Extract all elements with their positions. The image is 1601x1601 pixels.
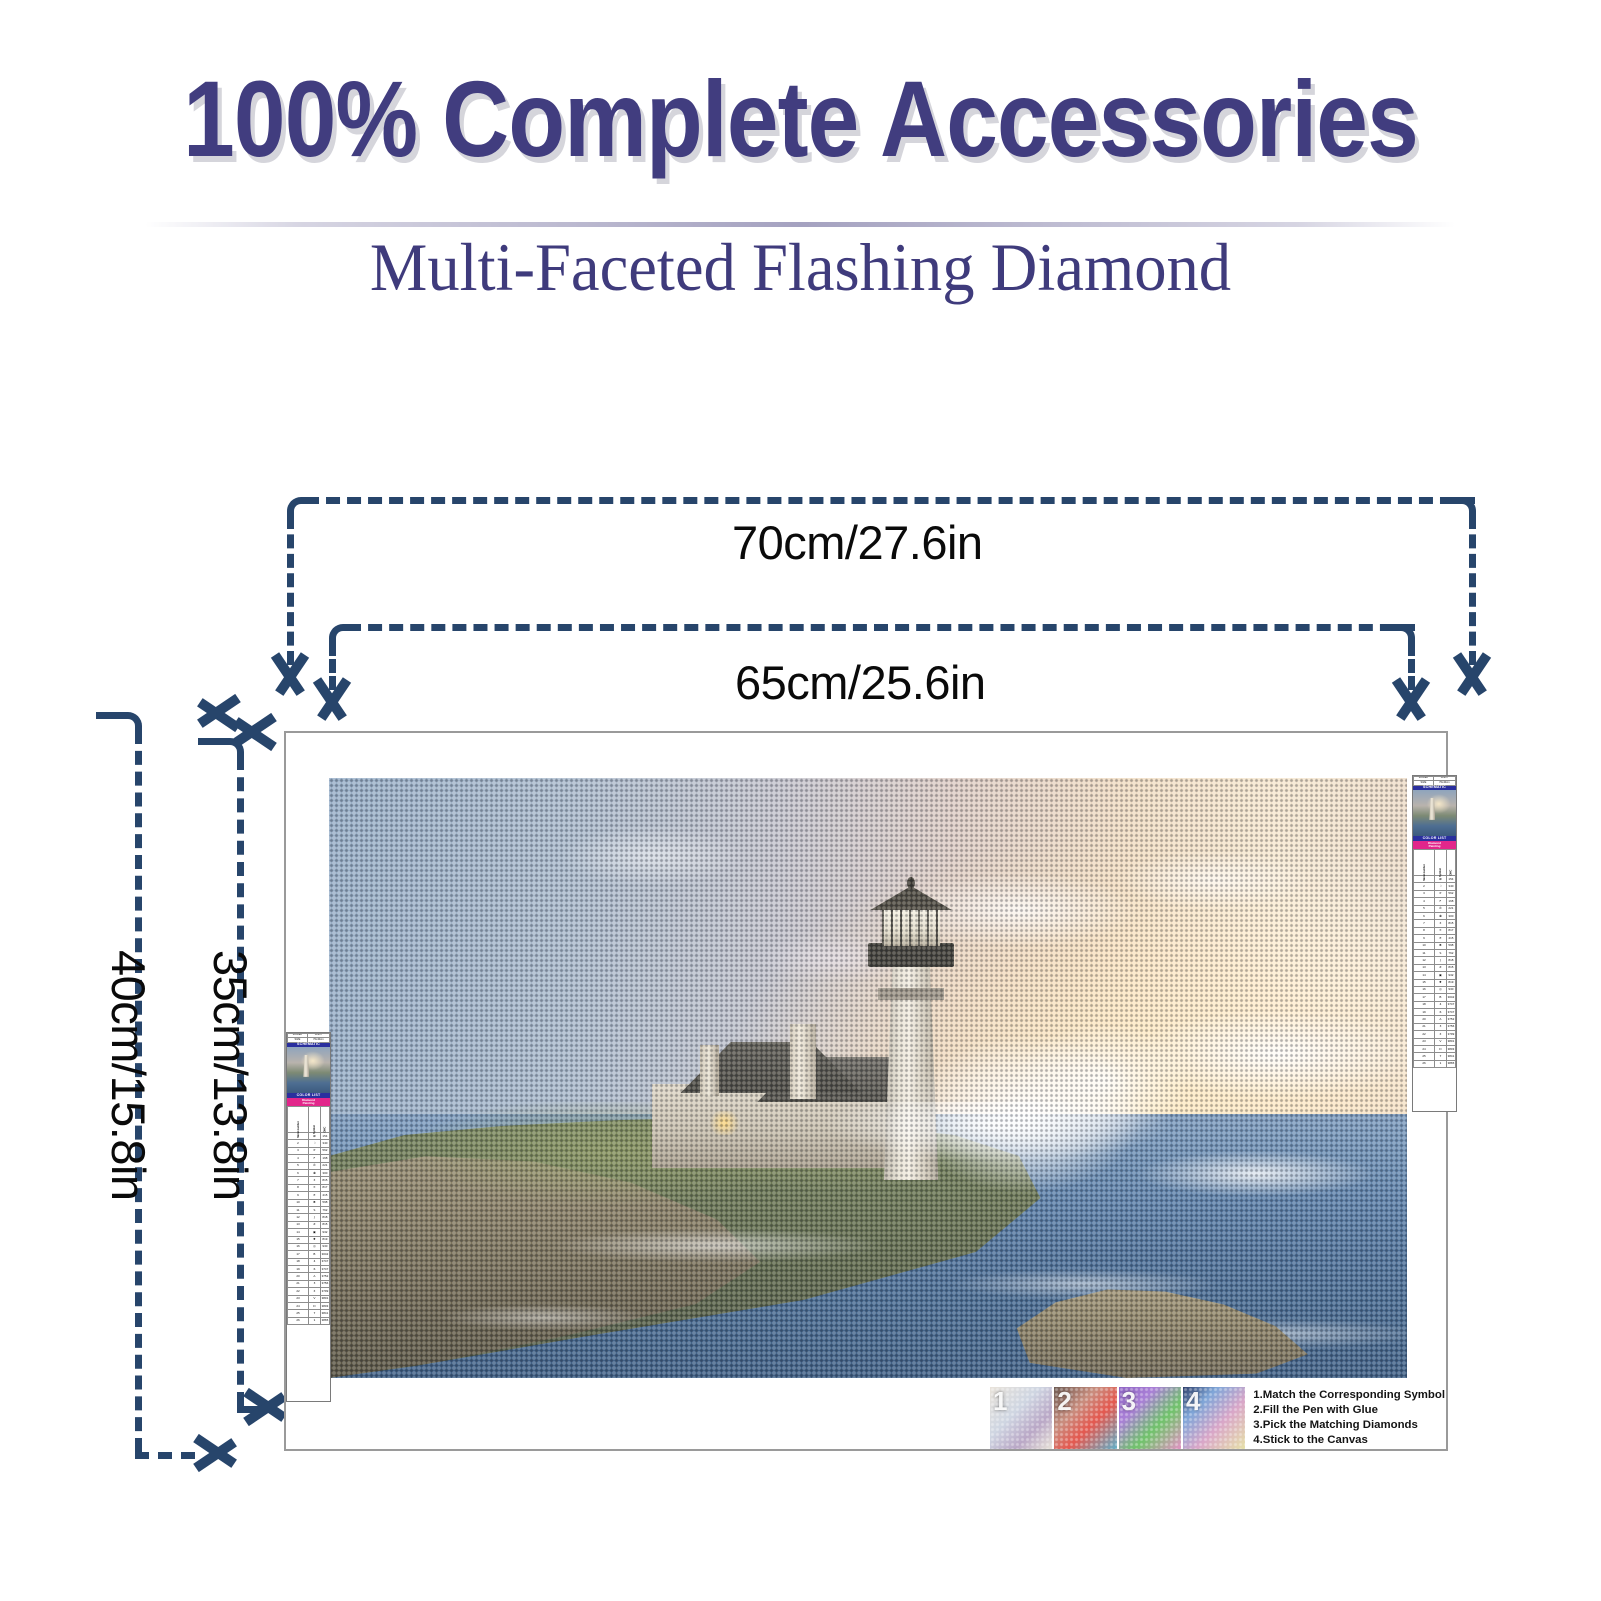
row-dmc: 817 (320, 1184, 329, 1191)
row-symbol: E (1434, 935, 1446, 942)
brand-banner: Diamond Painting (287, 1098, 330, 1106)
color-list-row: 14▣932 (1414, 972, 1456, 979)
color-list-row: 5✇221 (1414, 905, 1456, 912)
inner-height-arrow-bottom (246, 1381, 288, 1433)
color-list-row: 1✿154 (288, 1133, 330, 1140)
row-serial: 10 (1414, 942, 1435, 949)
row-symbol: ✕ (1434, 927, 1446, 934)
row-symbol: ✇ (1434, 905, 1446, 912)
row-serial: 5 (288, 1162, 309, 1169)
instruction-step-3: 3.Pick the Matching Diamonds (1253, 1418, 1445, 1433)
row-symbol: ✽ (308, 1170, 320, 1177)
row-symbol: F (308, 1155, 320, 1162)
instruction-step-2: 2.Fill the Pen with Glue (1253, 1403, 1445, 1418)
lighthouse-lantern-bars (882, 907, 940, 946)
row-serial: 12 (288, 1214, 309, 1221)
row-symbol: ▣ (308, 1229, 320, 1236)
instruction-thumb-number-3: 3 (1122, 1388, 1136, 1414)
row-dmc: 221 (320, 1162, 329, 1169)
row-dmc: 932 (1446, 972, 1455, 979)
row-symbol: ✶ (1434, 1031, 1446, 1038)
col-dmc-label: DMC (1449, 870, 1452, 876)
house-chimney-right (790, 1024, 816, 1099)
row-serial: 21 (1414, 1023, 1435, 1030)
row-symbol: 7 (308, 1310, 320, 1317)
row-dmc: 3747 (1446, 1009, 1455, 1016)
row-dmc: 3801 (1446, 1038, 1455, 1045)
row-symbol: 3 (308, 1280, 320, 1287)
product-canvas: 1 2 3 4 1.Match the Corresponding Symbol… (284, 731, 1448, 1451)
row-serial: 17 (288, 1251, 309, 1258)
row-symbol: 1 (308, 1317, 320, 1324)
color-list-row: 24D3803 (288, 1303, 330, 1310)
inner-height-label: 35cm/13.8in (203, 950, 258, 1201)
row-serial: 22 (1414, 1031, 1435, 1038)
row-serial: 16 (288, 1243, 309, 1250)
row-dmc: 818 (1446, 957, 1455, 964)
color-list-row: 6✽300 (1414, 913, 1456, 920)
row-dmc: 3799 (320, 1288, 329, 1295)
row-dmc: 819 (1446, 979, 1455, 986)
row-serial: 22 (288, 1288, 309, 1295)
brand-banner: Diamond Painting (1413, 841, 1456, 849)
row-dmc: 154 (320, 1133, 329, 1140)
color-list-row: 9E415 (1414, 935, 1456, 942)
color-list-row: 10✖598 (288, 1199, 330, 1206)
row-serial: 4 (288, 1155, 309, 1162)
color-list-row: 4F168 (1414, 898, 1456, 905)
row-serial: 4 (1414, 898, 1435, 905)
color-list-row: 15✸819 (288, 1236, 330, 1243)
lighthouse-roof (870, 886, 951, 910)
outer-height-arrow-top (196, 687, 238, 739)
col-serial-label: Serial number (296, 1121, 299, 1138)
row-symbol: ✖ (1434, 942, 1446, 949)
color-list-row: 3P562 (288, 1147, 330, 1154)
color-list-row: 2☽340 (1414, 883, 1456, 890)
row-symbol: S (1434, 949, 1446, 956)
row-dmc: 300 (320, 1170, 329, 1177)
color-list-row: 10✖598 (1414, 942, 1456, 949)
instruction-thumb-number-2: 2 (1057, 1388, 1071, 1414)
row-serial: 20 (288, 1273, 309, 1280)
row-dmc: 3799 (1446, 1031, 1455, 1038)
row-serial: 21 (288, 1280, 309, 1287)
row-symbol: ▣ (1434, 972, 1446, 979)
row-dmc: 3865 (1446, 1060, 1455, 1067)
row-serial: 3 (1414, 890, 1435, 897)
color-list-row: 2☽340 (288, 1140, 330, 1147)
row-dmc: 762 (320, 1206, 329, 1213)
row-dmc: 815 (320, 1177, 329, 1184)
color-list-row: 12J818 (288, 1214, 330, 1221)
row-dmc: 3752 (1446, 1016, 1455, 1023)
row-serial: 8 (1414, 927, 1435, 934)
row-symbol: V (1434, 1038, 1446, 1045)
row-symbol: 6 (1434, 1009, 1446, 1016)
outer-width-leg-right (1469, 515, 1476, 665)
color-list-row: 2613865 (1414, 1060, 1456, 1067)
row-serial: 3 (288, 1147, 309, 1154)
header-block: 100% Complete Accessories Multi-Faceted … (0, 0, 1601, 330)
color-list-row: 1✿154 (1414, 876, 1456, 883)
house-chimney-left (700, 1045, 719, 1096)
color-list-row: 7✶815 (1414, 920, 1456, 927)
row-dmc: 300 (1446, 913, 1455, 920)
row-dmc: 3747 (1446, 1001, 1455, 1008)
row-dmc: 815 (1446, 920, 1455, 927)
row-serial: 10 (288, 1199, 309, 1206)
row-serial: 18 (288, 1258, 309, 1265)
row-symbol: J (308, 1214, 320, 1221)
color-list-row: 16◎930 (1414, 986, 1456, 993)
lighthouse-gallery (868, 943, 953, 967)
inner-height-top-leg (198, 738, 224, 745)
color-list-row: 20A3752 (1414, 1016, 1456, 1023)
row-dmc: 415 (320, 1192, 329, 1199)
instruction-thumb-3: 3 (1119, 1387, 1181, 1449)
row-dmc: 598 (320, 1199, 329, 1206)
row-dmc: 762 (1446, 949, 1455, 956)
color-list-row: 4F168 (288, 1155, 330, 1162)
row-symbol: 1 (1434, 1060, 1446, 1067)
row-serial: 26 (1414, 1060, 1435, 1067)
color-list-row: 8✕817 (288, 1184, 330, 1191)
instruction-thumb-number-1: 1 (993, 1388, 1007, 1414)
row-symbol: ☽ (1434, 883, 1446, 890)
color-list-row: 5✇221 (288, 1162, 330, 1169)
row-serial: 12 (1414, 957, 1435, 964)
color-list-table-right: Serial number Symbol DMC 1✿1542☽3403P562… (1413, 849, 1456, 1068)
row-serial: 5 (1414, 905, 1435, 912)
title-divider (145, 222, 1455, 227)
row-serial: 8 (288, 1184, 309, 1191)
row-dmc: 3042 (1446, 994, 1455, 1001)
color-list-row: 17B3042 (288, 1251, 330, 1258)
color-list-row: 1963747 (1414, 1009, 1456, 1016)
color-list-row: 20A3752 (288, 1273, 330, 1280)
col-dmc: DMC (320, 1107, 329, 1133)
inner-width-arrow-left (306, 680, 358, 722)
row-dmc: 819 (320, 1236, 329, 1243)
row-serial: 23 (288, 1295, 309, 1302)
schematic-thumbnail (1413, 790, 1456, 836)
row-dmc: 3841 (320, 1310, 329, 1317)
row-dmc: 932 (320, 1229, 329, 1236)
row-serial: 14 (1414, 972, 1435, 979)
row-dmc: 3752 (320, 1273, 329, 1280)
color-list-body-left: 1✿1542☽3403P5624F1685✇2216✽3007✶8158✕817… (288, 1133, 330, 1325)
row-serial: 9 (288, 1192, 309, 1199)
outer-width-arrow-right (1446, 655, 1498, 697)
color-list-row: 1963747 (288, 1266, 330, 1273)
color-list-legend-right: MODEL 52967 SIZE 70x40cm SCHEMATIC COLOR… (1412, 775, 1457, 1112)
color-list-row: 14▣932 (288, 1229, 330, 1236)
row-symbol: ◎ (1434, 986, 1446, 993)
inner-width-arrow-right (1385, 680, 1437, 722)
row-dmc: 340 (1446, 883, 1455, 890)
row-dmc: 817 (1446, 927, 1455, 934)
color-list-row: 6✽300 (288, 1170, 330, 1177)
outer-height-top-leg (96, 712, 122, 719)
instruction-thumb-1: 1 (990, 1387, 1052, 1449)
instruction-strip: 1 2 3 4 1.Match the Corresponding Symbol… (990, 1387, 1445, 1449)
row-symbol: D (308, 1303, 320, 1310)
outer-height-label: 40cm/15.8in (101, 950, 156, 1201)
row-serial: 13 (1414, 964, 1435, 971)
color-list-body-right: 1✿1542☽3403P5624F1685✇2216✽3007✶8158✕817… (1414, 876, 1456, 1068)
row-symbol: Z (308, 1221, 320, 1228)
color-list-row: 24D3803 (1414, 1046, 1456, 1053)
row-symbol: 6 (308, 1266, 320, 1273)
row-symbol: A (1434, 1016, 1446, 1023)
row-dmc: 3747 (320, 1258, 329, 1265)
color-list-table-left: Serial number Symbol DMC 1✿1542☽3403P562… (287, 1106, 330, 1325)
row-dmc: 340 (320, 1140, 329, 1147)
legend-meta-table-left: MODEL 52967 SIZE 70x40cm (287, 1033, 330, 1043)
color-list-row: 3P562 (1414, 890, 1456, 897)
row-serial: 19 (1414, 1009, 1435, 1016)
row-dmc: 598 (1446, 942, 1455, 949)
color-list-row: 2573841 (288, 1310, 330, 1317)
col-dmc: DMC (1446, 850, 1455, 876)
row-symbol: 4 (1434, 1001, 1446, 1008)
row-symbol: ✶ (308, 1177, 320, 1184)
page-subtitle: Multi-Faceted Flashing Diamond (40, 228, 1561, 307)
row-symbol: ◎ (308, 1243, 320, 1250)
row-symbol: 7 (1434, 1053, 1446, 1060)
row-dmc: 930 (320, 1243, 329, 1250)
row-dmc: 415 (1446, 935, 1455, 942)
outer-width-label: 70cm/27.6in (732, 515, 983, 570)
row-serial: 26 (288, 1317, 309, 1324)
row-dmc: 3747 (320, 1266, 329, 1273)
instruction-thumb-4: 4 (1183, 1387, 1245, 1449)
row-serial: 16 (1414, 986, 1435, 993)
instruction-step-1: 1.Match the Corresponding Symbol (1253, 1388, 1445, 1403)
color-list-row: 17B3042 (1414, 994, 1456, 1001)
col-serial-label: Serial number (1422, 864, 1425, 881)
lighthouse-finial (907, 877, 915, 889)
row-symbol: 3 (1434, 1023, 1446, 1030)
row-symbol: F (1434, 898, 1446, 905)
color-list-row: 2133756 (288, 1280, 330, 1287)
outer-width-line (305, 497, 1475, 504)
row-serial: 24 (1414, 1046, 1435, 1053)
row-dmc: 815 (1446, 964, 1455, 971)
row-symbol: ✇ (308, 1162, 320, 1169)
color-list-row: 13Z815 (288, 1221, 330, 1228)
outer-height-bottom-leg (135, 1452, 195, 1459)
color-list-legend-left: MODEL 52967 SIZE 70x40cm SCHEMATIC COLOR… (286, 1032, 331, 1402)
legend-meta-table-right: MODEL 52967 SIZE 70x40cm (1413, 776, 1456, 786)
row-dmc: 3756 (1446, 1023, 1455, 1030)
color-list-row: 12J818 (1414, 957, 1456, 964)
color-list-row: 13Z815 (1414, 964, 1456, 971)
row-dmc: 3042 (320, 1251, 329, 1258)
color-list-row: 2133756 (1414, 1023, 1456, 1030)
row-dmc: 221 (1446, 905, 1455, 912)
row-serial: 7 (288, 1177, 309, 1184)
col-serial-number: Serial number (1414, 850, 1435, 876)
row-symbol: E (308, 1192, 320, 1199)
row-symbol: B (1434, 994, 1446, 1001)
row-dmc: 3803 (320, 1303, 329, 1310)
row-dmc: 3841 (1446, 1053, 1455, 1060)
row-dmc: 818 (320, 1214, 329, 1221)
color-list-row: 7✶815 (288, 1177, 330, 1184)
row-dmc: 930 (1446, 986, 1455, 993)
row-symbol: A (308, 1273, 320, 1280)
row-serial: 25 (288, 1310, 309, 1317)
brand-line-2: Painting (287, 1102, 330, 1105)
color-list-head: Serial number Symbol DMC (1414, 850, 1456, 876)
row-symbol: D (1434, 1046, 1446, 1053)
row-dmc: 168 (320, 1155, 329, 1162)
row-serial: 14 (288, 1229, 309, 1236)
row-serial: 11 (288, 1206, 309, 1213)
row-serial: 24 (288, 1303, 309, 1310)
instruction-thumb-number-4: 4 (1186, 1388, 1200, 1414)
row-symbol: P (308, 1147, 320, 1154)
row-serial: 25 (1414, 1053, 1435, 1060)
row-dmc: 815 (320, 1221, 329, 1228)
row-serial: 15 (288, 1236, 309, 1243)
row-serial: 23 (1414, 1038, 1435, 1045)
instruction-thumb-2: 2 (1054, 1387, 1116, 1449)
row-serial: 2 (288, 1140, 309, 1147)
instruction-step-4: 4.Stick to the Canvas (1253, 1433, 1445, 1448)
schematic-thumbnail (287, 1047, 330, 1093)
row-symbol: ✶ (1434, 920, 1446, 927)
color-list-row: 23V3801 (1414, 1038, 1456, 1045)
instruction-steps: 1.Match the Corresponding Symbol 2.Fill … (1247, 1387, 1445, 1449)
row-serial: 11 (1414, 949, 1435, 956)
col-symbol-label: Symbol (313, 1125, 316, 1134)
row-serial: 6 (1414, 913, 1435, 920)
row-serial: 20 (1414, 1016, 1435, 1023)
row-dmc: 154 (1446, 876, 1455, 883)
row-symbol: V (308, 1295, 320, 1302)
row-serial: 13 (288, 1221, 309, 1228)
row-symbol: ✸ (1434, 979, 1446, 986)
row-serial: 15 (1414, 979, 1435, 986)
row-symbol: 4 (308, 1258, 320, 1265)
col-dmc-label: DMC (323, 1127, 326, 1133)
col-serial-number: Serial number (288, 1107, 309, 1133)
color-list-row: 15✸819 (1414, 979, 1456, 986)
row-symbol: ✖ (308, 1199, 320, 1206)
lighthouse-band (878, 988, 944, 1000)
row-symbol: ✽ (1434, 913, 1446, 920)
row-serial: 18 (1414, 1001, 1435, 1008)
row-serial: 17 (1414, 994, 1435, 1001)
brand-line-2: Painting (1413, 845, 1456, 848)
inner-height-arrow-top (232, 706, 274, 758)
color-list-row: 8✕817 (1414, 927, 1456, 934)
color-list-head: Serial number Symbol DMC (288, 1107, 330, 1133)
inner-width-line (347, 624, 1415, 631)
row-dmc: 3803 (1446, 1046, 1455, 1053)
row-symbol: S (308, 1206, 320, 1213)
inner-width-label: 65cm/25.6in (735, 655, 986, 710)
outer-height-arrow-bottom (196, 1427, 238, 1479)
row-symbol: B (308, 1251, 320, 1258)
row-symbol: Z (1434, 964, 1446, 971)
row-symbol: ✕ (308, 1184, 320, 1191)
row-serial: 6 (288, 1170, 309, 1177)
color-list-row: 2613865 (288, 1317, 330, 1324)
row-serial: 2 (1414, 883, 1435, 890)
artwork-image (329, 778, 1407, 1378)
color-list-row: 1843747 (1414, 1001, 1456, 1008)
col-symbol: Symbol (1434, 850, 1446, 876)
color-list-row: 9E415 (288, 1192, 330, 1199)
row-symbol: J (1434, 957, 1446, 964)
row-symbol: ✸ (308, 1236, 320, 1243)
color-list-row: 1843747 (288, 1258, 330, 1265)
col-symbol-label: Symbol (1439, 868, 1442, 877)
col-symbol: Symbol (308, 1107, 320, 1133)
row-dmc: 562 (320, 1147, 329, 1154)
row-symbol: P (1434, 890, 1446, 897)
row-serial: 19 (288, 1266, 309, 1273)
color-list-row: 22✶3799 (288, 1288, 330, 1295)
row-symbol: ✶ (308, 1288, 320, 1295)
color-list-row: 11S762 (288, 1206, 330, 1213)
row-serial: 9 (1414, 935, 1435, 942)
color-list-row: 11S762 (1414, 949, 1456, 956)
color-list-row: 2573841 (1414, 1053, 1456, 1060)
row-dmc: 562 (1446, 890, 1455, 897)
color-list-row: 22✶3799 (1414, 1031, 1456, 1038)
row-dmc: 3756 (320, 1280, 329, 1287)
outer-width-leg-left (287, 515, 294, 665)
wave-spray (890, 1018, 1213, 1258)
row-serial: 7 (1414, 920, 1435, 927)
page-title: 100% Complete Accessories (112, 62, 1489, 175)
row-dmc: 3801 (320, 1295, 329, 1302)
color-list-row: 16◎930 (288, 1243, 330, 1250)
row-dmc: 3865 (320, 1317, 329, 1324)
color-list-row: 23V3801 (288, 1295, 330, 1302)
row-dmc: 168 (1446, 898, 1455, 905)
row-symbol: ☽ (308, 1140, 320, 1147)
